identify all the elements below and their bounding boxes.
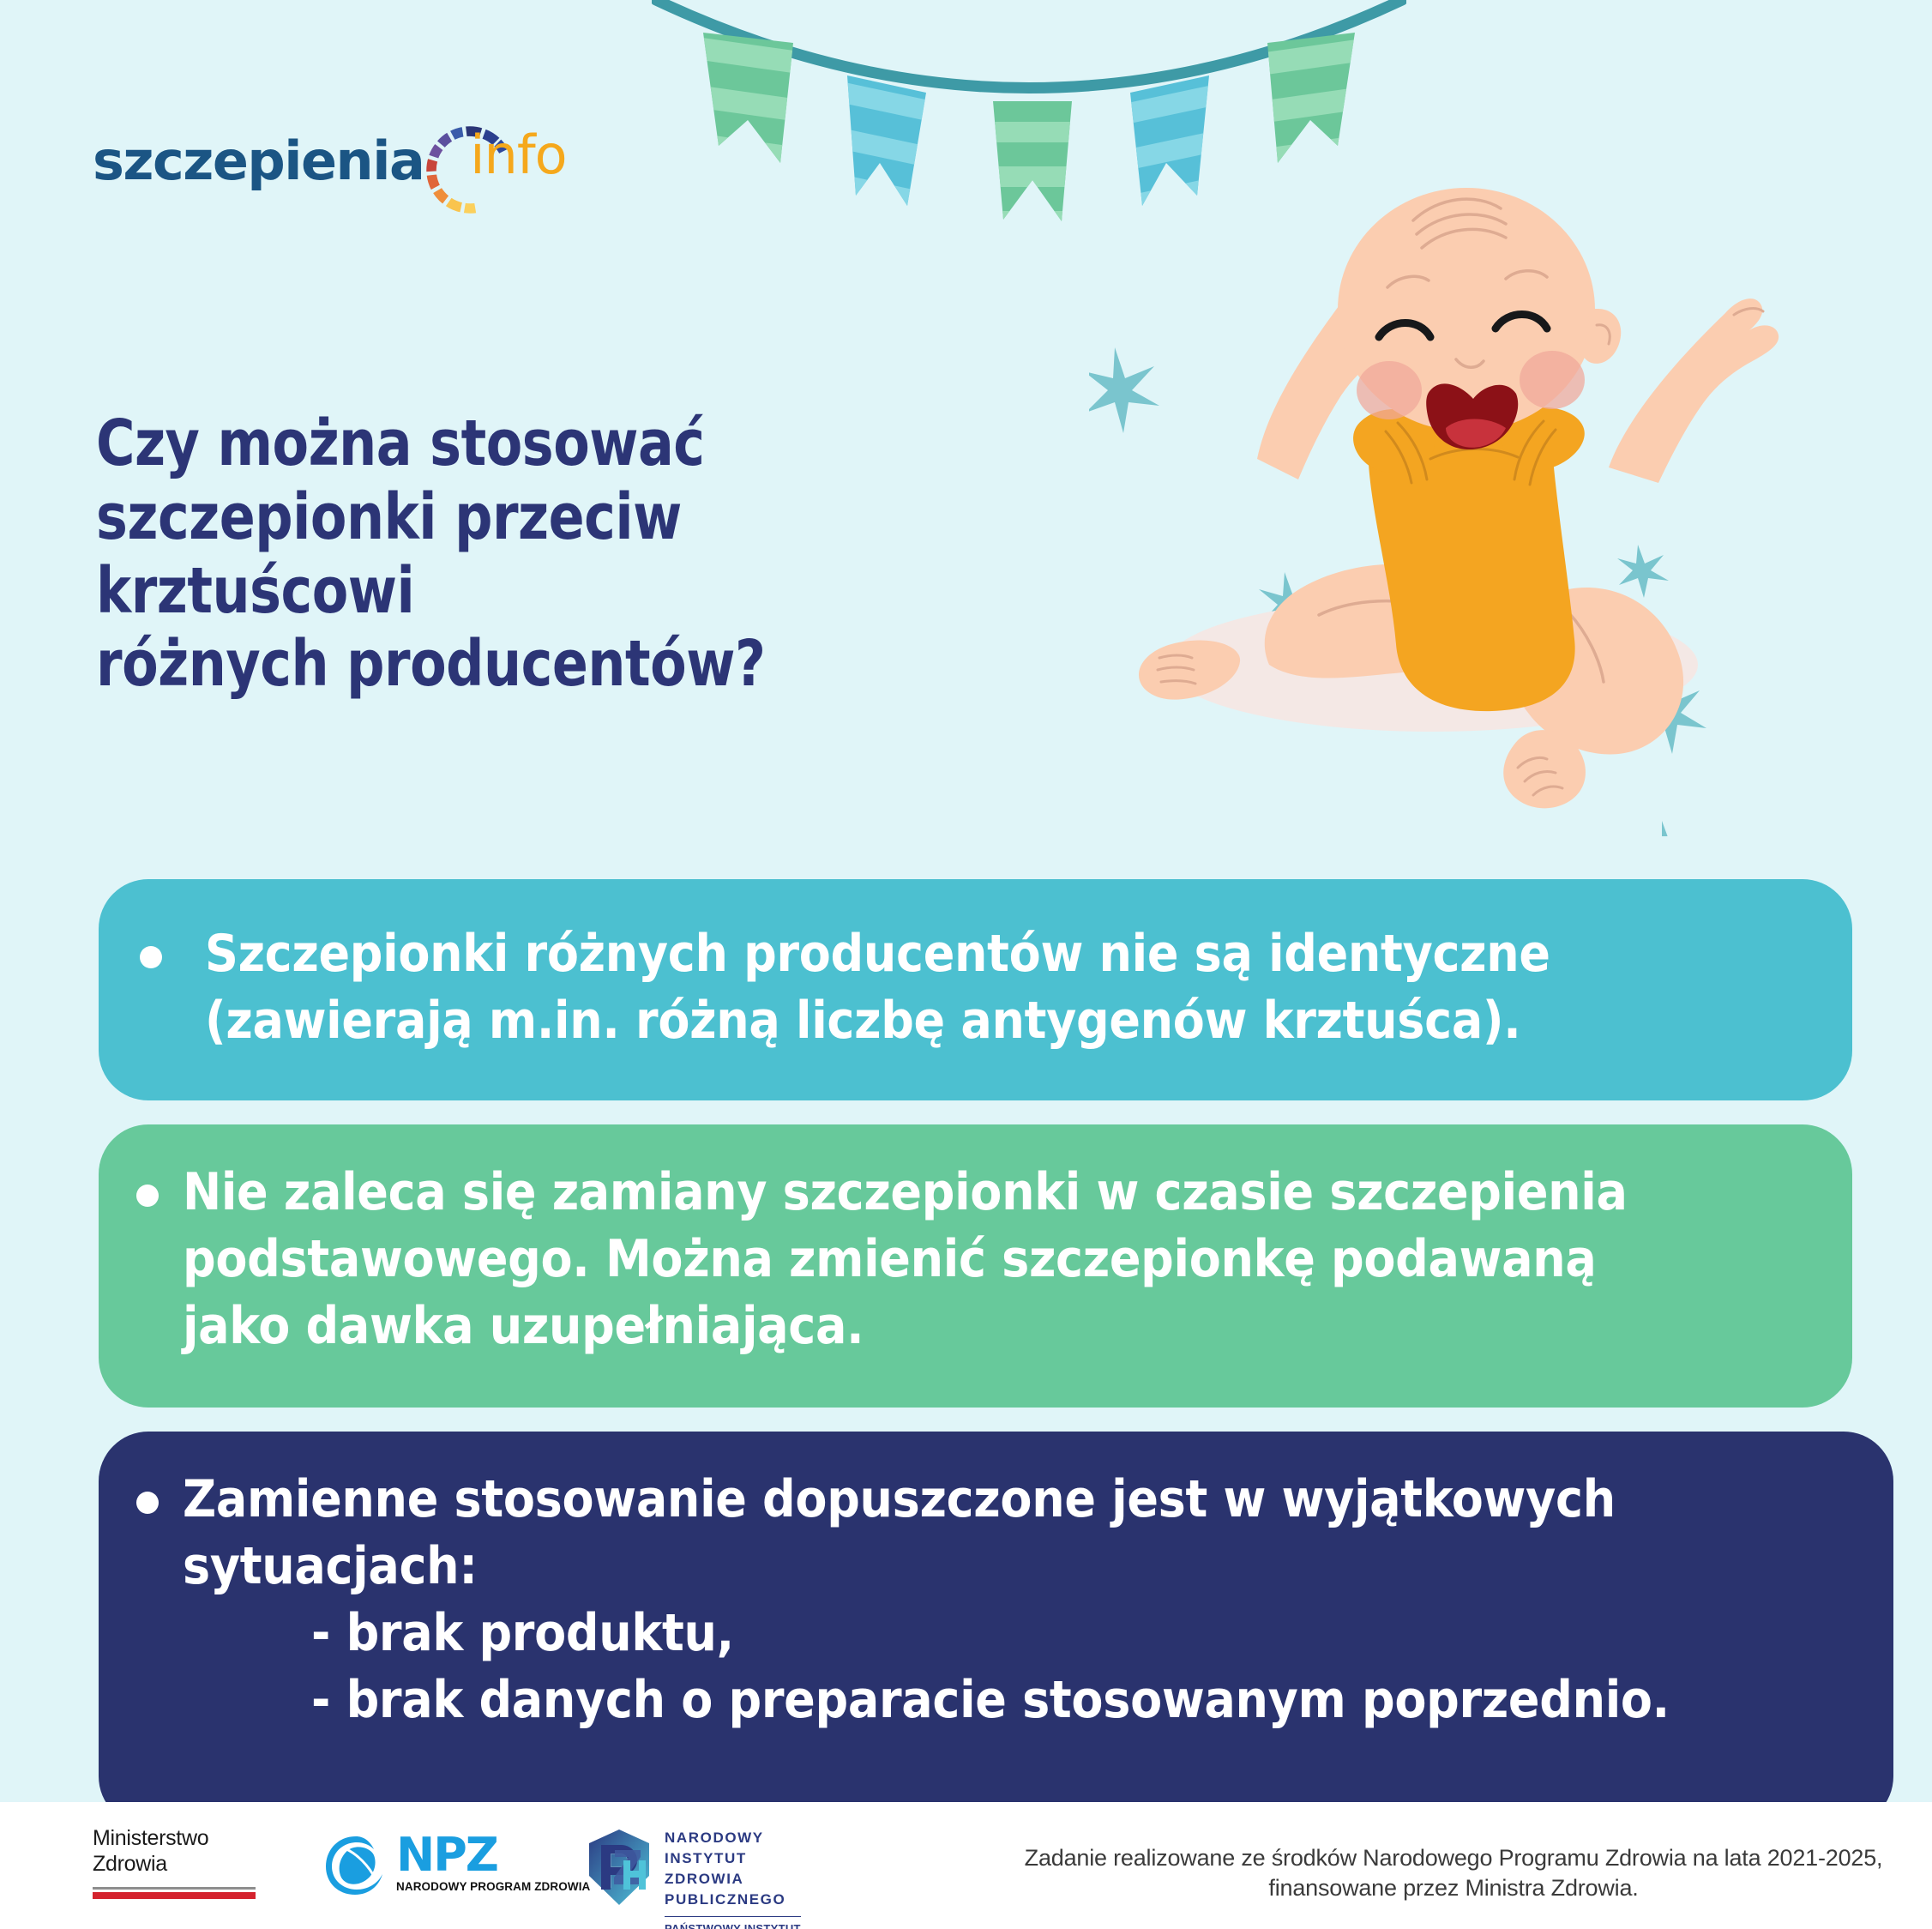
baby-head bbox=[1338, 188, 1595, 431]
baby-eye-right bbox=[1496, 315, 1547, 329]
baby-left-arm bbox=[1257, 268, 1417, 479]
card-3-sub-line-2: - brak danych o preparacie stosowanym po… bbox=[183, 1667, 1863, 1733]
info-card-no-switch-primary: Nie zaleca się zamiany szczepionki w cza… bbox=[99, 1124, 1852, 1408]
ministry-rule-grey bbox=[93, 1887, 256, 1890]
ministry-line-1: Ministerstwo bbox=[93, 1826, 281, 1852]
title-line-4: różnych producentów? bbox=[96, 628, 1014, 702]
bunting-flag-5 bbox=[1255, 17, 1386, 189]
nizp-line-3: ZDROWIA bbox=[665, 1869, 801, 1890]
funding-note: Zadanie realizowane ze środków Narodoweg… bbox=[1020, 1843, 1887, 1903]
info-card-vaccines-not-identical: Szczepionki różnych producentów nie są i… bbox=[99, 879, 1852, 1100]
baby-illustration bbox=[1089, 184, 1809, 836]
card-3-line-2: sytuacjach: bbox=[183, 1533, 1863, 1600]
bullet-icon bbox=[136, 1492, 159, 1514]
ministry-of-health-logo: Ministerstwo Zdrowia bbox=[93, 1826, 281, 1899]
bullet-icon bbox=[140, 946, 162, 968]
logo-wordmark: szczepienia bbox=[93, 135, 424, 188]
logo-info-word: info bbox=[470, 129, 566, 182]
page-footer: Ministerstwo Zdrowia NPZ NARODOWY PROGRA… bbox=[0, 1802, 1932, 1929]
card-3-body: Zamienne stosowanie dopuszczone jest w w… bbox=[183, 1466, 1863, 1733]
nizp-line-2: INSTYTUT bbox=[665, 1848, 801, 1869]
baby-cheek-right bbox=[1520, 351, 1585, 409]
baby-tongue bbox=[1446, 419, 1506, 448]
title-line-1: Czy można stosować bbox=[96, 407, 1014, 481]
baby-mouth bbox=[1426, 383, 1518, 449]
ministry-rule-red bbox=[93, 1892, 256, 1899]
bullet-icon bbox=[136, 1185, 159, 1207]
baby-shadow bbox=[1166, 598, 1698, 732]
title-line-3: krztuścowi bbox=[96, 555, 1014, 629]
title-line-2: szczepionki przeciw bbox=[96, 481, 1014, 555]
baby-left-foot bbox=[1139, 641, 1240, 700]
card-3-line-1: Zamienne stosowanie dopuszczone jest w w… bbox=[183, 1466, 1863, 1533]
bunting-flag-4 bbox=[1121, 60, 1234, 232]
decorative-stars bbox=[1089, 347, 1712, 836]
nizp-sub-1: PAŃSTWOWY INSTYTUT bbox=[665, 1921, 801, 1929]
baby-ear bbox=[1583, 309, 1621, 364]
infographic-page: szczepienia bbox=[0, 0, 1932, 1929]
baby-sleeve-right bbox=[1502, 407, 1585, 471]
funding-note-line-1: Zadanie realizowane ze środków Narodoweg… bbox=[1020, 1843, 1887, 1873]
bunting-flag-2 bbox=[835, 60, 948, 232]
baby-left-leg bbox=[1265, 564, 1485, 678]
npz-subtitle: NARODOWY PROGRAM ZDROWIA bbox=[396, 1880, 590, 1893]
card-1-body: Szczepionki różnych producentów nie są i… bbox=[186, 920, 1818, 1054]
nizp-line-1: NARODOWY bbox=[665, 1828, 801, 1848]
baby-eye-left bbox=[1379, 323, 1430, 338]
page-title: Czy można stosować szczepionki przeciw k… bbox=[96, 407, 1014, 702]
pzh-shield-icon bbox=[586, 1828, 653, 1907]
baby-sleeve-left bbox=[1353, 409, 1435, 473]
funding-note-line-2: finansowane przez Ministra Zdrowia. bbox=[1020, 1873, 1887, 1903]
bunting-decoration bbox=[652, 0, 1406, 249]
card-1-line-1: Szczepionki różnych producentów nie są i… bbox=[205, 920, 1818, 987]
nizp-pzh-logo: NARODOWY INSTYTUT ZDROWIA PUBLICZNEGO PA… bbox=[586, 1828, 801, 1929]
npz-letters: NPZ bbox=[396, 1833, 590, 1877]
baby-neck bbox=[1430, 383, 1501, 428]
baby-right-arm bbox=[1609, 298, 1779, 483]
baby-right-foot bbox=[1503, 730, 1586, 808]
info-cards: Szczepionki różnych producentów nie są i… bbox=[0, 879, 1932, 1826]
site-logo[interactable]: szczepienia bbox=[93, 120, 573, 202]
baby-onesie bbox=[1369, 411, 1575, 711]
card-1-line-2: (zawierają m.in. różną liczbę antygenów … bbox=[205, 987, 1818, 1054]
info-card-exceptional-situations: Zamienne stosowanie dopuszczone jest w w… bbox=[99, 1432, 1893, 1826]
logo-ring-wrap: info bbox=[418, 118, 573, 204]
nizp-line-4: PUBLICZNEGO bbox=[665, 1890, 801, 1910]
card-2-line-2: podstawowego. Można zmienić szczepionkę … bbox=[183, 1226, 1821, 1293]
card-3-sub-line-1: - brak produktu, bbox=[183, 1600, 1863, 1667]
baby-cheek-left bbox=[1357, 361, 1422, 419]
ministry-line-2: Zdrowia bbox=[93, 1852, 281, 1878]
npz-leaf-icon bbox=[324, 1833, 388, 1898]
card-2-line-1: Nie zaleca się zamiany szczepionki w cza… bbox=[183, 1159, 1821, 1226]
bunting-flag-3 bbox=[986, 90, 1080, 244]
bunting-flag-1 bbox=[685, 17, 816, 189]
card-2-line-3: jako dawka uzupełniająca. bbox=[183, 1293, 1821, 1359]
npz-logo: NPZ NARODOWY PROGRAM ZDROWIA bbox=[324, 1833, 590, 1898]
baby-right-leg bbox=[1507, 588, 1683, 754]
card-2-body: Nie zaleca się zamiany szczepionki w cza… bbox=[183, 1159, 1821, 1359]
